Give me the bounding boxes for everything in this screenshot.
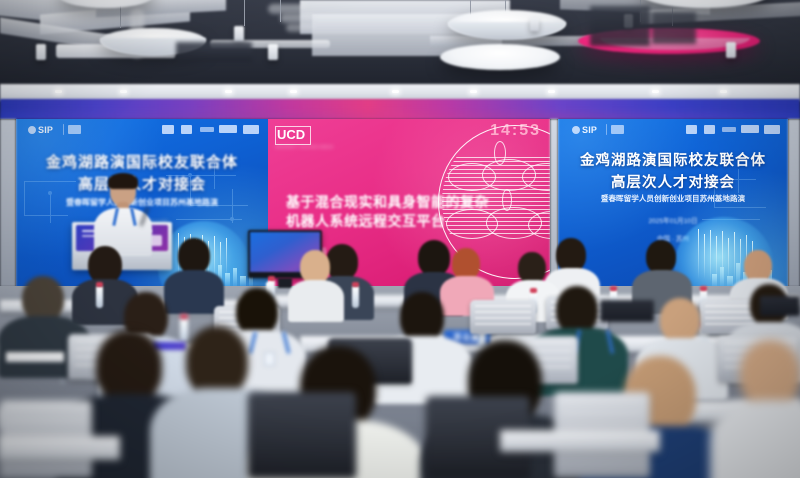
partner-logo-2 (704, 125, 715, 134)
chair (248, 392, 356, 478)
partner-logo-4 (219, 125, 237, 133)
ceiling-pendant-light (440, 44, 560, 70)
institution-logo-subtitle: UNIVERSITY COLLEGE DUBLIN (275, 145, 333, 149)
right-screen-date: 2025年01月10日 (558, 215, 788, 225)
right-screen-title-line1: 金鸡湖路演国际校友联合体 (558, 149, 788, 170)
partner-logo-1 (162, 125, 174, 134)
water-bottle (180, 318, 188, 342)
water-bottle (352, 286, 359, 308)
document (6, 352, 64, 362)
right-screen-logo-bar: SIP (558, 124, 788, 137)
right-screen-title-line2: 高层次人才对接会 (558, 171, 788, 192)
partner-logo-4 (741, 125, 759, 133)
ceiling (0, 0, 800, 86)
partner-logo-1 (686, 125, 697, 134)
chair (470, 300, 536, 334)
left-screen-title-line2: 高层次人才对接会 (16, 173, 268, 194)
partner-logo-5 (764, 125, 780, 134)
table-row (500, 430, 660, 452)
laptop (600, 300, 654, 322)
laptop (760, 296, 800, 316)
left-screen-subtitle: 暨春晖留学人员创新创业项目苏州基地路演 (16, 197, 268, 208)
water-bottle (96, 286, 103, 308)
partner-logo-3 (200, 127, 214, 132)
presentation-title-line2: 机器人系统远程交互平台 (286, 211, 446, 231)
logo-secondary-mark (68, 125, 81, 134)
table-row (0, 436, 120, 460)
left-screen-logo-bar: SIP (16, 124, 268, 137)
partner-logo-5 (243, 125, 259, 134)
sip-logo: SIP (582, 125, 597, 135)
partner-logo-2 (181, 125, 192, 134)
logo-secondary-mark (611, 125, 624, 134)
right-screen-subtitle: 暨春晖留学人员创新创业项目苏州基地路演 (558, 193, 788, 204)
left-screen-title-line1: 金鸡湖路演国际校友联合体 (16, 151, 268, 172)
partner-logo-3 (722, 127, 736, 132)
conference-hall-photo: SIP 金鸡湖路演国际校友联合体 高层次人才对接会 暨春晖留学人员创新创业项目苏… (0, 0, 800, 478)
sip-logo: SIP (38, 125, 53, 135)
